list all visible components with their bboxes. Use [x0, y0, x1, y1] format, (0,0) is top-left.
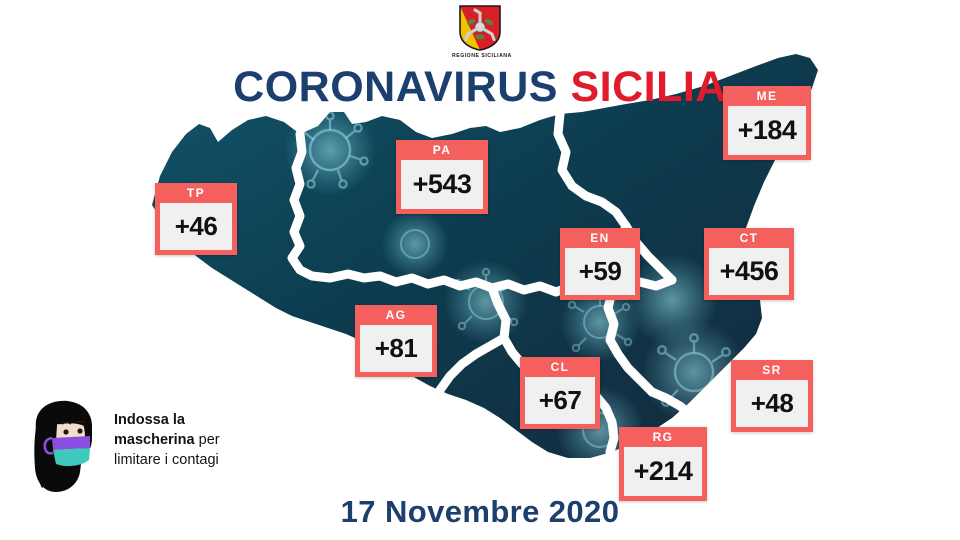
infographic-page: REGIONE SICILIANA CORONAVIRUS SICILIA TP… [0, 0, 960, 540]
province-code-label: PA [396, 140, 488, 160]
province-badge-ag: AG+81 [355, 305, 437, 377]
province-badge-me: ME+184 [723, 86, 811, 160]
province-code-label: AG [355, 305, 437, 325]
province-badge-ct: CT+456 [704, 228, 794, 300]
regione-siciliana-logo: REGIONE SICILIANA [452, 4, 508, 59]
province-badge-rg: RG+214 [619, 427, 707, 501]
title-secondary: SICILIA [570, 63, 726, 111]
mask-advisory-line1: Indossa la [114, 412, 185, 428]
province-code-label: SR [731, 360, 813, 380]
province-code-label: EN [560, 228, 640, 248]
mask-advisory-line3: limitare i contagi [114, 452, 219, 468]
mask-advisory: Indossa la mascherina per limitare i con… [18, 398, 278, 496]
province-badge-cl: CL+67 [520, 357, 600, 429]
province-new-cases-value: +46 [160, 203, 232, 250]
province-new-cases-value: +59 [565, 248, 635, 295]
province-badge-en: EN+59 [560, 228, 640, 300]
logo-caption: REGIONE SICILIANA [452, 53, 508, 59]
report-date: 17 Novembre 2020 [0, 494, 960, 530]
province-code-label: CT [704, 228, 794, 248]
province-new-cases-value: +214 [624, 447, 702, 496]
mask-advisory-line2-rest: per [199, 432, 220, 448]
province-code-label: ME [723, 86, 811, 106]
province-new-cases-value: +67 [525, 377, 595, 424]
province-badge-sr: SR+48 [731, 360, 813, 432]
page-title: CORONAVIRUS SICILIA [0, 66, 960, 109]
sicilian-region-crest-trinacria-icon [457, 4, 503, 52]
province-new-cases-value: +184 [728, 106, 806, 155]
province-code-label: CL [520, 357, 600, 377]
province-new-cases-value: +81 [360, 325, 432, 372]
mask-advisory-text: Indossa la mascherina per limitare i con… [114, 410, 284, 470]
province-new-cases-value: +48 [736, 380, 808, 427]
province-code-label: TP [155, 183, 237, 203]
title-primary: CORONAVIRUS [233, 63, 558, 111]
mask-advisory-line2-bold: mascherina [114, 432, 195, 448]
province-new-cases-value: +543 [401, 160, 483, 209]
province-new-cases-value: +456 [709, 248, 789, 295]
province-code-label: RG [619, 427, 707, 447]
woman-wearing-face-mask-icon [22, 398, 108, 494]
province-badge-pa: PA+543 [396, 140, 488, 214]
province-badge-tp: TP+46 [155, 183, 237, 255]
